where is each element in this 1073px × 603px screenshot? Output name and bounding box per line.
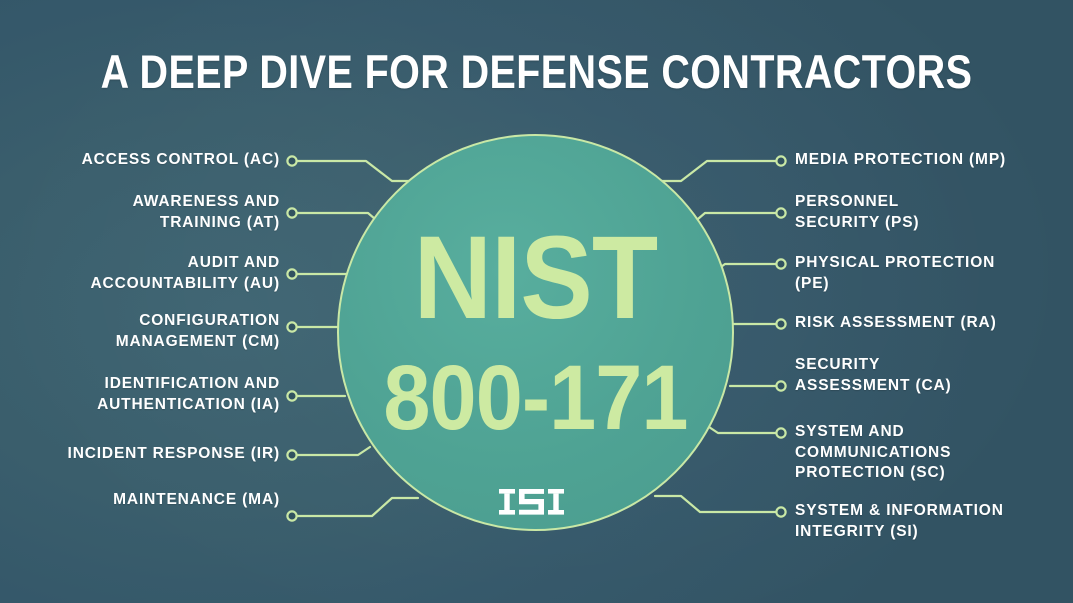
standard-name: NIST — [353, 219, 718, 337]
family-label-at: AWARENESS AND TRAINING (AT) — [90, 192, 280, 233]
family-label-ir: INCIDENT RESPONSE (IR) — [20, 444, 280, 465]
family-label-mp: MEDIA PROTECTION (MP) — [795, 150, 1055, 171]
infographic-canvas: A DEEP DIVE FOR DEFENSE CONTRACTORS — [0, 0, 1073, 603]
family-label-ra: RISK ASSESSMENT (RA) — [795, 313, 1045, 334]
standard-number: 800-171 — [353, 352, 718, 444]
family-label-ps: PERSONNEL SECURITY (PS) — [795, 192, 935, 233]
family-label-ca: SECURITY ASSESSMENT (CA) — [795, 355, 985, 396]
connector-marker — [287, 391, 296, 400]
connector-marker — [776, 259, 785, 268]
connector-marker — [776, 381, 785, 390]
family-label-sc: SYSTEM AND COMMUNICATIONS PROTECTION (SC… — [795, 422, 990, 484]
connector-marker — [776, 428, 785, 437]
connector-marker — [287, 450, 296, 459]
connector-marker — [776, 156, 785, 165]
connector-marker — [776, 208, 785, 217]
family-label-pe: PHYSICAL PROTECTION (PE) — [795, 253, 1020, 294]
family-label-ac: ACCESS CONTROL (AC) — [30, 150, 280, 171]
connector-marker — [287, 511, 296, 520]
isi-logo — [337, 489, 734, 515]
connector-marker — [776, 507, 785, 516]
family-label-au: AUDIT AND ACCOUNTABILITY (AU) — [50, 253, 280, 294]
connector-marker — [287, 156, 296, 165]
family-label-si: SYSTEM & INFORMATION INTEGRITY (SI) — [795, 501, 1040, 542]
connector-marker — [287, 322, 296, 331]
connector-marker — [287, 208, 296, 217]
connector-marker — [287, 269, 296, 278]
family-label-ia: IDENTIFICATION AND AUTHENTICATION (IA) — [50, 374, 280, 415]
family-label-ma: MAINTENANCE (MA) — [60, 490, 280, 511]
connector-marker — [776, 319, 785, 328]
family-label-cm: CONFIGURATION MANAGEMENT (CM) — [80, 311, 280, 352]
